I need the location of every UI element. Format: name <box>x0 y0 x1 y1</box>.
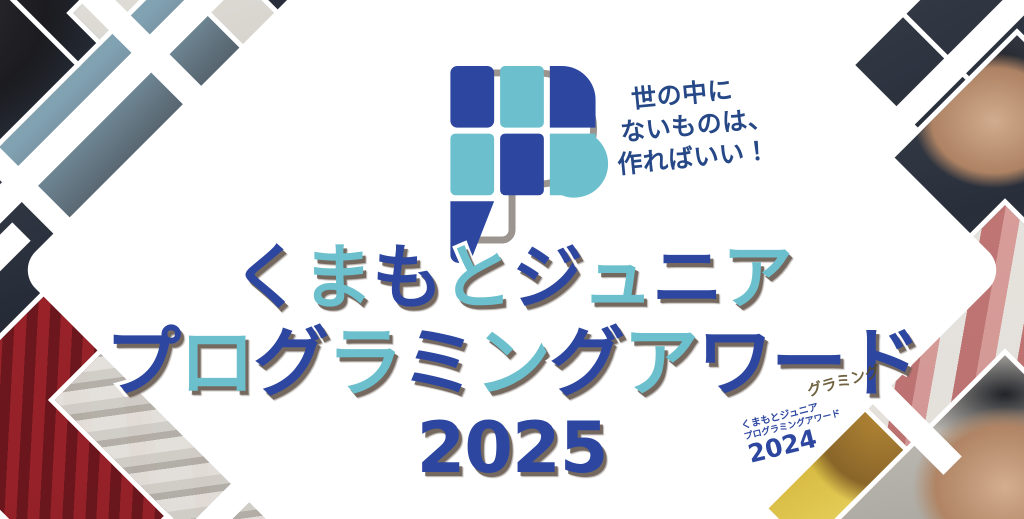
p-block-logo <box>440 60 600 235</box>
logo-tile-2-3 <box>550 134 608 198</box>
logo-tile-1-2 <box>500 66 544 128</box>
logo-tile-1-1 <box>450 66 494 128</box>
logo-tile-1-3 <box>550 66 596 128</box>
poster-root: 世の中に ないものは、 作ればいい！ くまもとジュニア プログラミングアワード … <box>0 0 1024 519</box>
logo-tile-2-2 <box>500 134 544 196</box>
logo-tile-2-1 <box>450 134 494 196</box>
